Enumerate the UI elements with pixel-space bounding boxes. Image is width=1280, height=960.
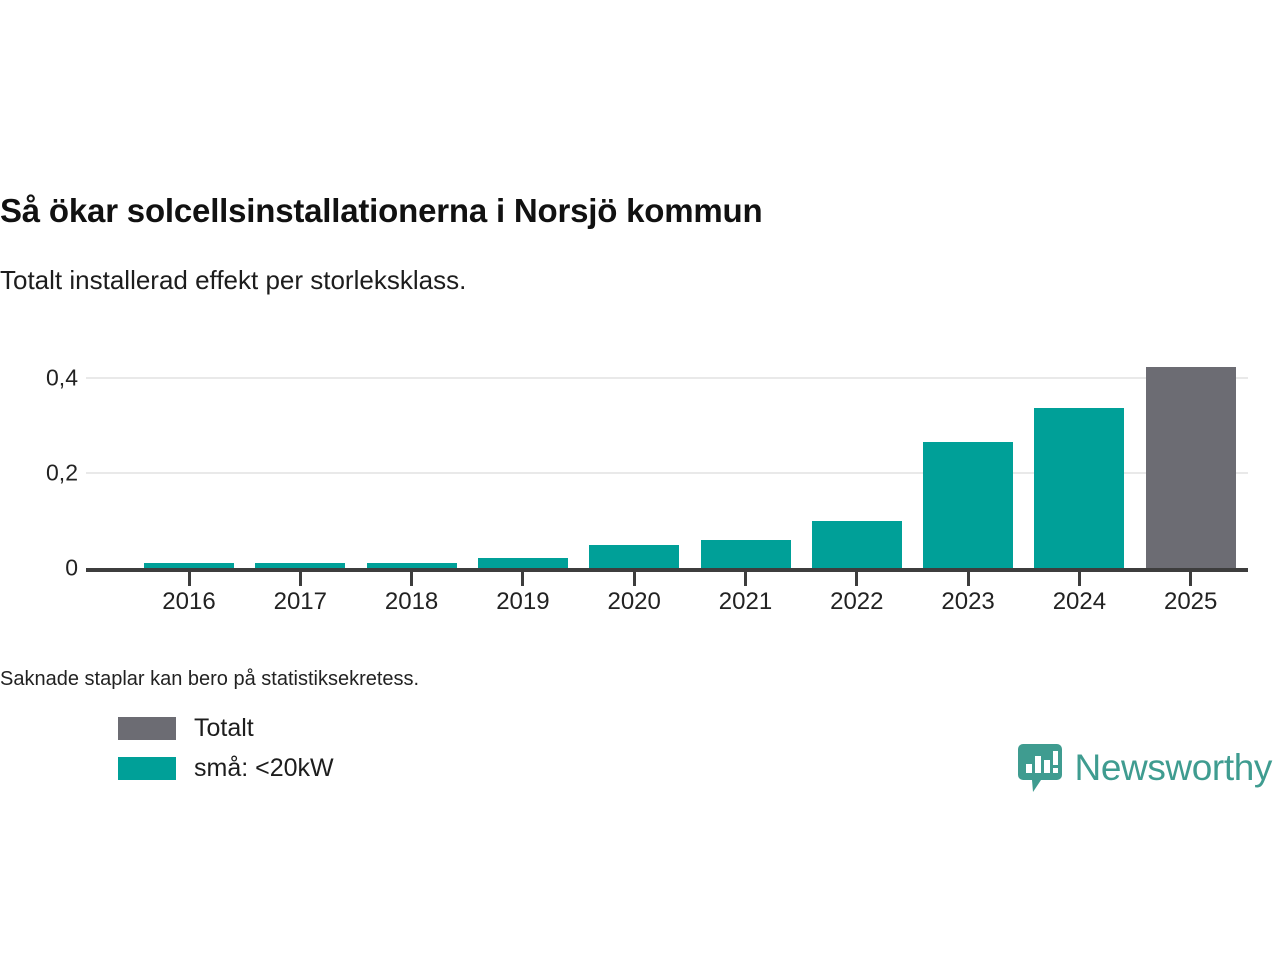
- x-axis-tick-label-2021: 2021: [691, 588, 801, 616]
- x-axis-tick-2025: [1189, 572, 1192, 586]
- bar-2019[interactable]: [478, 558, 568, 568]
- bar-2024[interactable]: [1034, 408, 1124, 568]
- legend-item-small[interactable]: små: <20kW: [118, 748, 334, 788]
- x-axis-tick-label-2025: 2025: [1136, 588, 1246, 616]
- x-axis-tick-label-2016: 2016: [134, 588, 244, 616]
- x-axis-tick-2020: [633, 572, 636, 586]
- chart-footnote: Saknade staplar kan bero på statistiksek…: [0, 668, 419, 691]
- x-axis-tick-2023: [967, 572, 970, 586]
- speech-bubble-bar-chart-icon: [1017, 742, 1063, 794]
- chart-plot-area: 00,20,4 20162017201820192020202120222023…: [0, 340, 1280, 640]
- chart-subtitle: Totalt installerad effekt per storlekskl…: [0, 265, 1240, 296]
- bar-2023[interactable]: [923, 442, 1013, 568]
- legend-label-small: små: <20kW: [194, 754, 334, 783]
- chart-x-axis-line: [86, 568, 1248, 572]
- x-axis-tick-2019: [521, 572, 524, 586]
- x-axis-tick-label-2023: 2023: [913, 588, 1023, 616]
- bar-2020[interactable]: [589, 545, 679, 568]
- x-axis-tick-2022: [855, 572, 858, 586]
- legend-item-total[interactable]: Totalt: [118, 708, 334, 748]
- legend-label-total: Totalt: [194, 714, 254, 743]
- x-axis-tick-label-2017: 2017: [245, 588, 355, 616]
- page-title: Så ökar solcellsinstallationerna i Norsj…: [0, 192, 1240, 230]
- chart-legend: Totalt små: <20kW: [118, 708, 334, 788]
- legend-swatch-total-icon: [118, 717, 176, 740]
- x-axis-tick-label-2024: 2024: [1024, 588, 1134, 616]
- x-axis-tick-2018: [410, 572, 413, 586]
- newsworthy-logo[interactable]: Newsworthy: [1017, 742, 1273, 794]
- x-axis-tick-2021: [744, 572, 747, 586]
- legend-swatch-small-icon: [118, 757, 176, 780]
- x-axis-tick-2024: [1078, 572, 1081, 586]
- x-axis-tick-label-2019: 2019: [468, 588, 578, 616]
- newsworthy-wordmark: Newsworthy: [1075, 747, 1273, 789]
- x-axis-tick-label-2022: 2022: [802, 588, 912, 616]
- x-axis-tick-label-2020: 2020: [579, 588, 689, 616]
- bar-2021[interactable]: [701, 540, 791, 568]
- bar-2022[interactable]: [812, 521, 902, 568]
- x-axis-tick-label-2018: 2018: [357, 588, 467, 616]
- bar-2025[interactable]: [1146, 367, 1236, 568]
- x-axis-tick-2017: [299, 572, 302, 586]
- x-axis-tick-2016: [188, 572, 191, 586]
